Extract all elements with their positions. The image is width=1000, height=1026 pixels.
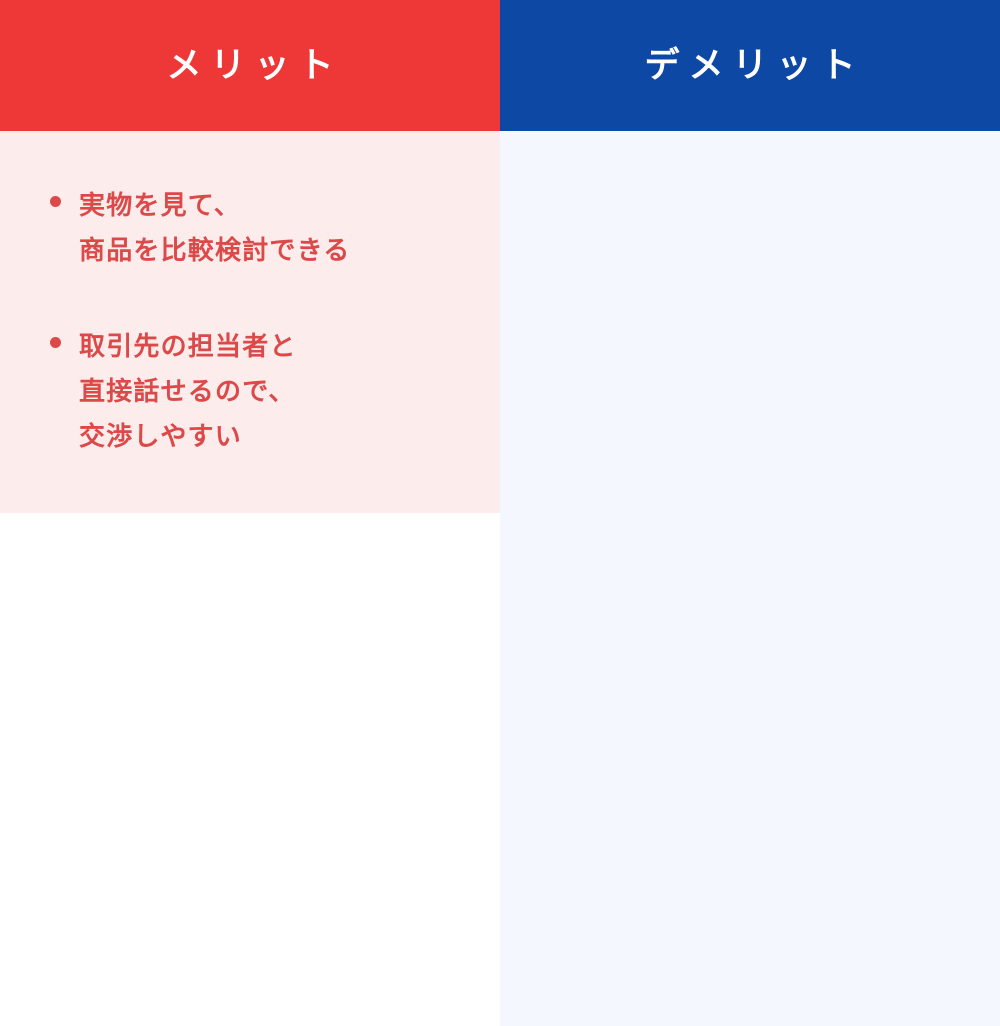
- bullet-dot-icon: [50, 196, 61, 207]
- demerit-bullet-list: 開催時期が限られている Web仕入れに比べると、 移動や宿泊費などコストが かか…: [500, 131, 1000, 1026]
- column-header-merit: メリット: [0, 0, 500, 131]
- merit-bullet-list: 実物を見て、 商品を比較検討できる 取引先の担当者と 直接話せるので、 交渉しや…: [0, 131, 500, 459]
- column-header-merit-label: メリット: [157, 48, 342, 83]
- merit-demerit-comparison-table: メリット 実物を見て、 商品を比較検討できる 取引先の担当者と 直接話せるので、…: [0, 0, 1000, 513]
- bullet-dot-icon: [50, 337, 61, 348]
- list-item: 実物を見て、 商品を比較検討できる: [50, 183, 500, 273]
- column-demerit: デメリット 開催時期が限られている Web仕入れに比べると、 移動や宿泊費などコ…: [500, 0, 1000, 513]
- column-merit: メリット 実物を見て、 商品を比較検討できる 取引先の担当者と 直接話せるので、…: [0, 0, 500, 513]
- column-body-demerit: 開催時期が限られている Web仕入れに比べると、 移動や宿泊費などコストが かか…: [500, 131, 1000, 1026]
- list-item-label: 実物を見て、 商品を比較検討できる: [79, 183, 350, 273]
- list-item: 取引先の担当者と 直接話せるので、 交渉しやすい: [50, 324, 500, 459]
- list-item-label: 取引先の担当者と 直接話せるので、 交渉しやすい: [79, 324, 297, 459]
- column-header-demerit-label: デメリット: [635, 48, 864, 83]
- column-body-merit: 実物を見て、 商品を比較検討できる 取引先の担当者と 直接話せるので、 交渉しや…: [0, 131, 500, 513]
- column-header-demerit: デメリット: [500, 0, 1000, 131]
